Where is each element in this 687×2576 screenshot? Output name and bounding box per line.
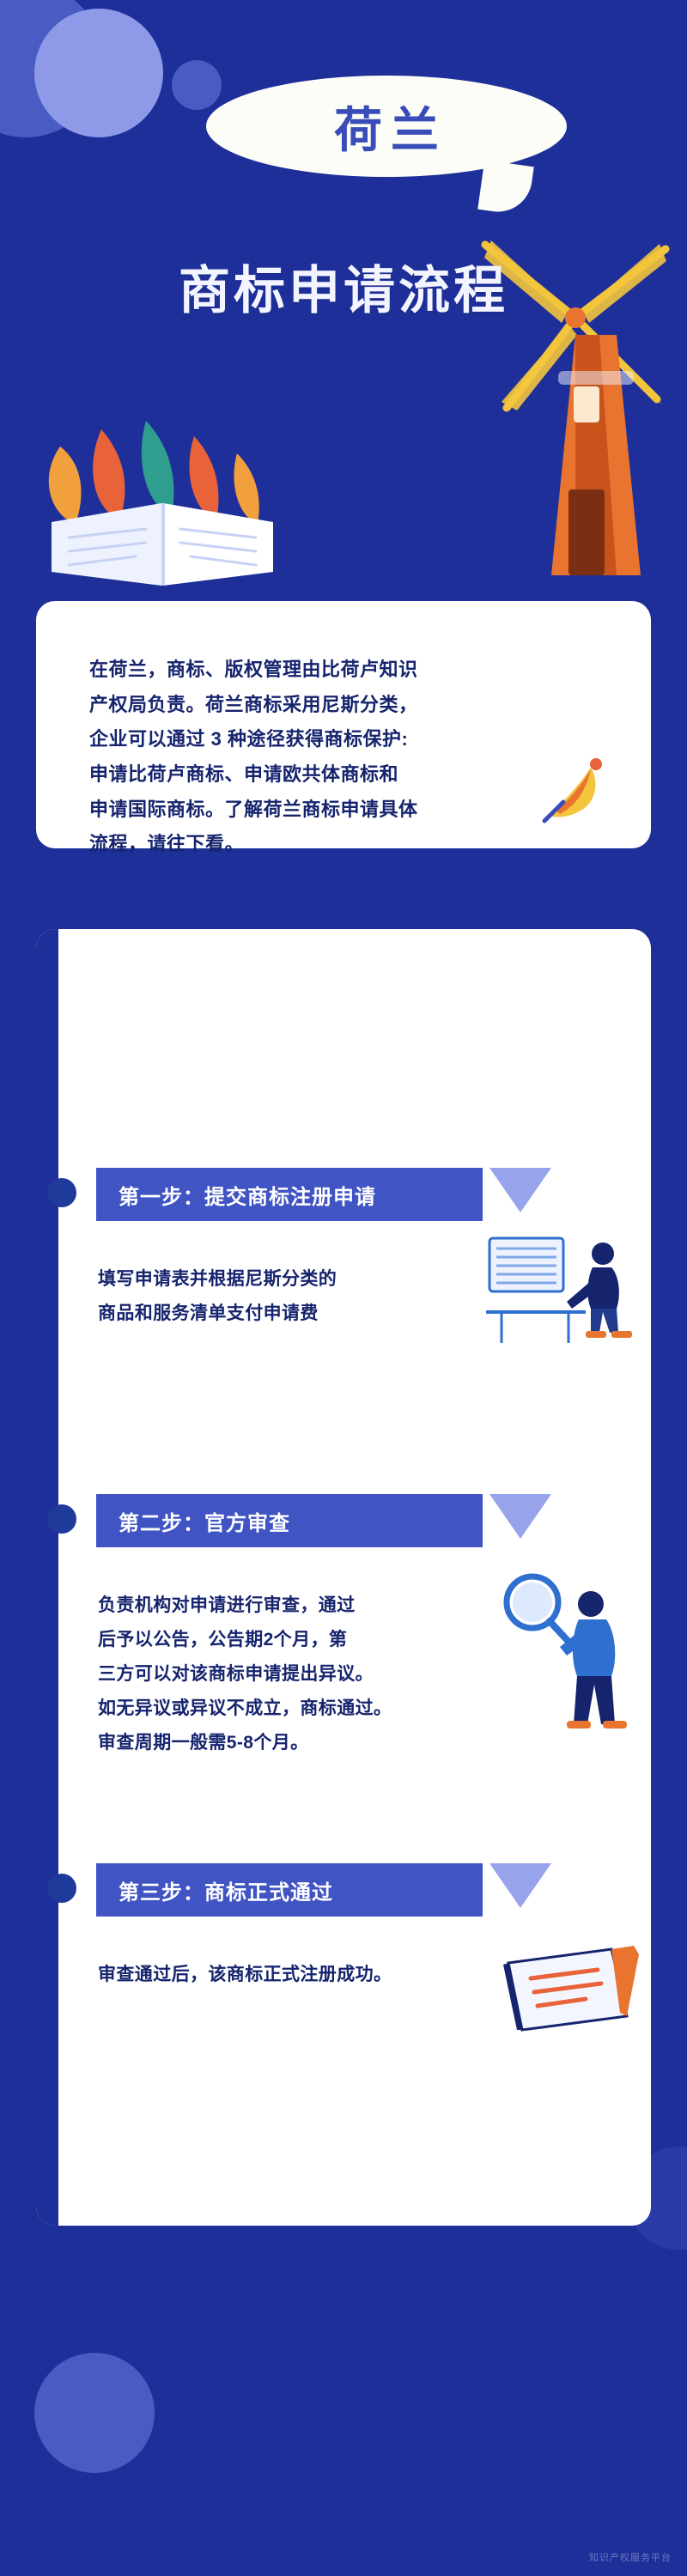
step-1-arrow-icon (489, 1168, 551, 1212)
timeline-rail (36, 929, 58, 2226)
step-2-arrow-icon (489, 1494, 551, 1539)
step-2-body: 负责机构对申请进行审查，通过 后予以公告，公告期2个月，第 三方可以对该商标申请… (98, 1589, 502, 1759)
person-with-magnifier-icon (483, 1564, 646, 1753)
country-speech-bubble: 荷兰 (206, 76, 567, 177)
header-section: 荷兰 (0, 0, 687, 601)
certificate-book-icon (483, 1934, 646, 2045)
timeline-notch-1 (47, 1178, 76, 1207)
person-at-desk-icon (483, 1230, 646, 1358)
step-1-header[interactable]: 第一步：提交商标注册申请 (96, 1168, 483, 1221)
bg-circle-bottom-left (34, 2353, 155, 2473)
step-2-title: 第二步：官方审查 (96, 1506, 290, 1536)
timeline-notch-3 (47, 1874, 76, 1903)
step-2-header[interactable]: 第二步：官方审查 (96, 1494, 483, 1547)
intro-card: 在荷兰，商标、版权管理由比荷卢知识 产权局负责。荷兰商标采用尼斯分类， 企业可以… (36, 601, 651, 848)
page-title: 商标申请流程 (0, 249, 687, 324)
country-label: 荷兰 (325, 92, 447, 161)
quill-pen-icon (538, 752, 611, 826)
step-3-body: 审查通过后，该商标正式注册成功。 (98, 1958, 502, 1992)
steps-panel: 第一步：提交商标注册申请 填写申请表并根据尼斯分类的 商品和服务清单支付申请费 … (36, 929, 651, 2226)
step-3-arrow-icon (489, 1863, 551, 1908)
step-1-title: 第一步：提交商标注册申请 (96, 1180, 376, 1210)
step-3-header[interactable]: 第三步：商标正式通过 (96, 1863, 483, 1917)
intro-paragraph: 在荷兰，商标、版权管理由比荷卢知识 产权局负责。荷兰商标采用尼斯分类， 企业可以… (89, 653, 570, 862)
footer-watermark: 知识产权服务平台 (589, 2550, 672, 2564)
timeline-notch-2 (47, 1504, 76, 1534)
step-3-title: 第三步：商标正式通过 (96, 1875, 333, 1905)
bubble-accent-dot (172, 60, 222, 110)
step-1-body: 填写申请表并根据尼斯分类的 商品和服务清单支付申请费 (98, 1262, 467, 1331)
open-book-illustration (34, 395, 292, 592)
speech-bubble-tail (477, 160, 534, 216)
